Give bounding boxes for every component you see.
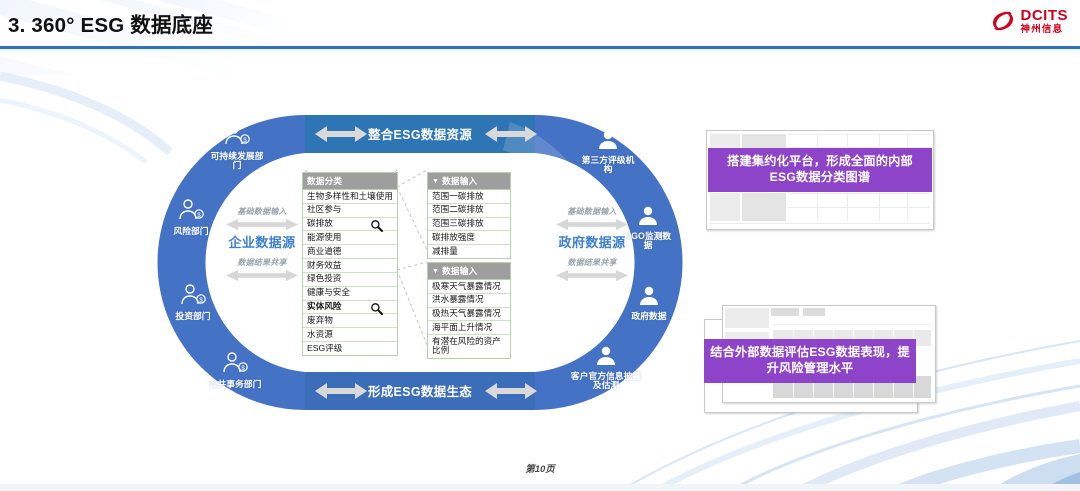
enterprise-data-source-label: 企业数据源	[207, 232, 317, 251]
callout-text: 搭建集约化平台，形成全面的内部ESG数据分类图谱	[714, 154, 926, 185]
cell-label: 绿色投资	[307, 273, 341, 283]
actor-third-party-rating[interactable]: 第三方评级机构	[579, 130, 637, 174]
table-row: 洪水暴露情况	[428, 294, 510, 308]
actor-investment-dept[interactable]: $ 投资部门	[165, 284, 221, 321]
title-divider-shadow	[0, 49, 1080, 56]
table-row: 能源使用	[303, 231, 397, 245]
callout-text: 结合外部数据评估ESG数据表现，提升风险管理水平	[710, 345, 910, 376]
magnifier-icon[interactable]	[370, 219, 383, 232]
actor-public-affairs-dept[interactable]: $ 公共事务部门	[203, 352, 267, 389]
government-data-source-label: 政府数据源	[537, 232, 647, 251]
table-row: 范围一碳排放	[428, 190, 510, 204]
page-title: 3. 360° ESG 数据底座	[8, 8, 213, 38]
top-bar-label: 整合ESG数据资源	[368, 124, 472, 143]
table-header: 数据分类	[303, 173, 397, 190]
actor-label: 可持续发展部门	[207, 152, 267, 170]
logo-name-en: DCITS	[1021, 8, 1069, 23]
double-arrow-icon	[224, 269, 300, 282]
table-row: 范围三碳排放	[428, 218, 510, 232]
person-icon	[625, 286, 673, 311]
page-number: 第10页	[0, 461, 1080, 475]
table-row: 实体风险	[303, 301, 397, 315]
table-row: 碳排放	[303, 218, 397, 232]
table-row: 减排量	[428, 245, 510, 258]
data-input-table-carbon: 数据输入 范围一碳排放范围二碳排放范围三碳排放碳排放强度减排量	[427, 172, 511, 259]
actor-label: 政府数据	[625, 312, 673, 321]
person-money-icon: $	[207, 124, 267, 151]
cell-label: ESG评级	[307, 343, 342, 353]
actor-government-data[interactable]: 政府数据	[625, 286, 673, 321]
table-row: 有潜在风险的资产比例	[428, 335, 510, 357]
table-row: 生物多样性和土壤使用	[303, 190, 397, 204]
slide-canvas: 3. 360° ESG 数据底座 DCITS 神州信息	[0, 0, 1080, 491]
cell-label: 商业道德	[307, 246, 341, 256]
person-money-icon: $	[165, 284, 221, 311]
flow-share-caption: 数据结果共享	[537, 257, 647, 268]
cell-label: 生物多样性和土壤使用	[307, 191, 393, 201]
actor-client-disclosure[interactable]: 客户官方信息披露及估测	[569, 346, 643, 390]
enterprise-data-flow: 基础数据输入 企业数据源 数据结果共享	[207, 206, 317, 283]
person-icon	[579, 130, 637, 155]
person-icon	[569, 346, 643, 371]
person-money-icon: $	[203, 352, 267, 379]
flow-input-caption: 基础数据输入	[537, 206, 647, 217]
data-input-table-physical-risk: 数据输入 极寒天气暴露情况洪水暴露情况极热天气暴露情况海平面上升情况有潜在风险的…	[427, 262, 511, 359]
cell-label: 碳排放	[307, 218, 333, 228]
dcits-swirl-logo-icon	[990, 8, 1016, 34]
table-row: 废弃物	[303, 314, 397, 328]
government-data-flow: 基础数据输入 政府数据源 数据结果共享	[537, 206, 647, 283]
cell-label: 废弃物	[307, 315, 333, 325]
callout-internal-platform[interactable]: 搭建集约化平台，形成全面的内部ESG数据分类图谱	[706, 130, 932, 238]
actor-sustainability-dept[interactable]: $ 可持续发展部门	[207, 124, 267, 170]
double-arrow-icon	[554, 218, 630, 231]
table-row: ESG评级	[303, 342, 397, 355]
company-logo: DCITS 神州信息	[990, 8, 1069, 35]
actor-label: 第三方评级机构	[579, 156, 637, 174]
double-arrow-icon	[554, 269, 630, 282]
cell-label: 实体风险	[307, 301, 341, 311]
table-header: 数据输入	[428, 263, 510, 280]
physical-risk-input-rows: 极寒天气暴露情况洪水暴露情况极热天气暴露情况海平面上升情况有潜在风险的资产比例	[428, 280, 510, 358]
logo-text: DCITS 神州信息	[1021, 8, 1069, 35]
table-row: 商业道德	[303, 245, 397, 259]
table-row: 健康与安全	[303, 287, 397, 301]
magnifier-icon[interactable]	[370, 302, 383, 315]
table-row: 碳排放强度	[428, 231, 510, 245]
double-arrow-icon	[224, 218, 300, 231]
actor-label: 客户官方信息披露及估测	[569, 372, 643, 390]
table-row: 水资源	[303, 328, 397, 342]
table-row: 社区参与	[303, 204, 397, 218]
bottom-strip	[0, 484, 1080, 491]
table-row: 海平面上升情况	[428, 321, 510, 335]
table-row: 极寒天气暴露情况	[428, 280, 510, 294]
carbon-input-rows: 范围一碳排放范围二碳排放范围三碳排放碳排放强度减排量	[428, 190, 510, 258]
flow-share-caption: 数据结果共享	[207, 257, 317, 268]
data-classification-table: 数据分类 生物多样性和土壤使用社区参与碳排放能源使用商业道德财务效益绿色投资健康…	[302, 172, 398, 356]
cell-label: 水资源	[307, 329, 333, 339]
esg-ring-diagram: 整合ESG数据资源 形成ESG数据生态 $ 可持续发展部门 $ 风险部门 $ 投…	[155, 110, 685, 415]
table-header: 数据输入	[428, 173, 510, 190]
callout-band: 搭建集约化平台，形成全面的内部ESG数据分类图谱	[708, 148, 932, 192]
actor-label: 公共事务部门	[203, 380, 267, 389]
bottom-bar-label: 形成ESG数据生态	[368, 381, 472, 400]
cell-label: 社区参与	[307, 204, 341, 214]
cell-label: 健康与安全	[307, 287, 350, 297]
flow-input-caption: 基础数据输入	[207, 206, 317, 217]
table-row: 财务效益	[303, 259, 397, 273]
table-row: 极热天气暴露情况	[428, 308, 510, 322]
actor-label: 投资部门	[165, 312, 221, 321]
cell-label: 财务效益	[307, 260, 341, 270]
callout-external-risk[interactable]: 结合外部数据评估ESG数据表现，提升风险管理水平	[704, 305, 934, 421]
logo-name-cn: 神州信息	[1021, 25, 1069, 35]
table-row: 绿色投资	[303, 273, 397, 287]
table-row: 范围二碳排放	[428, 204, 510, 218]
classification-rows: 生物多样性和土壤使用社区参与碳排放能源使用商业道德财务效益绿色投资健康与安全实体…	[303, 190, 397, 355]
callout-band: 结合外部数据评估ESG数据表现，提升风险管理水平	[704, 339, 916, 383]
cell-label: 能源使用	[307, 232, 341, 242]
